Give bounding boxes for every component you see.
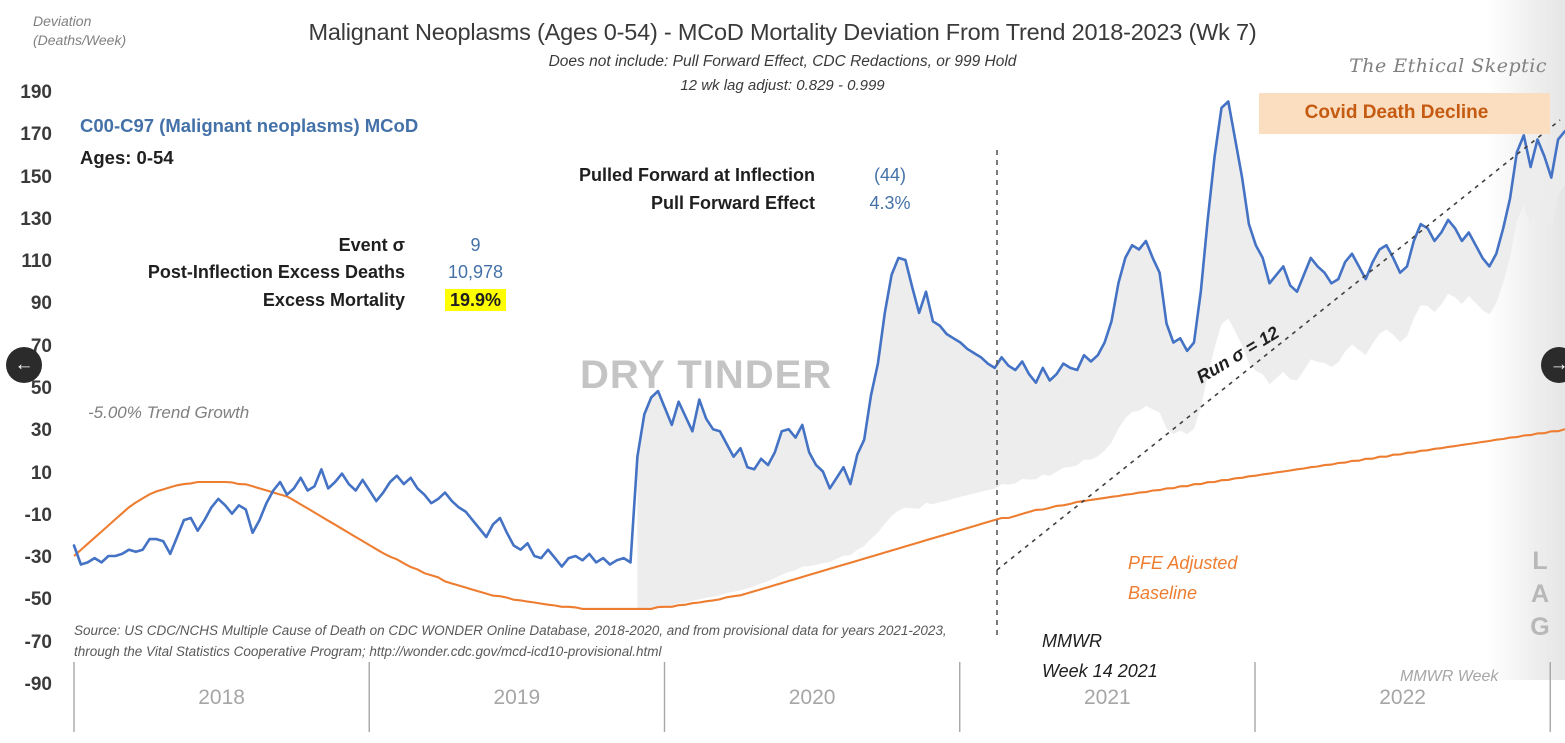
pf-stat-value-0: (44) [840, 165, 940, 186]
excess-mortality-highlight: 19.9% [445, 289, 506, 311]
pfe-baseline-line1: PFE Adjusted [1128, 548, 1237, 578]
y-axis-tick-150: 150 [6, 167, 52, 189]
trend-growth-label: -5.00% Trend Growth [88, 403, 249, 423]
x-axis-tick-2018: 2018 [198, 686, 245, 710]
pfe-adjusted-baseline-label: PFE Adjusted Baseline [1128, 548, 1237, 608]
stat-value-0: 9 [418, 235, 533, 256]
x-axis-tick-2020: 2020 [789, 686, 836, 710]
stat-label-0: Event σ [70, 235, 405, 256]
chart-subtitle-lag-adjust: 12 wk lag adjust: 0.829 - 0.999 [0, 77, 1565, 94]
pfe-baseline-line2: Baseline [1128, 578, 1237, 608]
arrow-right-icon: → [1550, 354, 1565, 376]
source-citation: Source: US CDC/NCHS Multiple Cause of De… [74, 620, 974, 662]
covid-death-decline-label: Covid Death Decline [1259, 102, 1534, 124]
x-axis-tick-2019: 2019 [494, 686, 541, 710]
pf-stat-label-0: Pulled Forward at Inflection [480, 165, 815, 186]
mmwr-week-axis-label: MMWR Week [1400, 668, 1498, 686]
chart-subtitle-exclusions: Does not include: Pull Forward Effect, C… [0, 53, 1565, 71]
icd-code-label: C00-C97 (Malignant neoplasms) MCoD [80, 115, 418, 137]
lag-letter-A: A [1527, 578, 1553, 611]
mmwr-marker-line2: Week 14 2021 [1042, 656, 1158, 686]
dry-tinder-watermark: DRY TINDER [580, 353, 832, 398]
y-axis-tick--50: -50 [6, 589, 52, 611]
mmwr-marker-line1: MMWR [1042, 626, 1158, 656]
ethical-skeptic-watermark: The Ethical Skeptic [1349, 55, 1547, 77]
y-axis-tick-30: 30 [6, 420, 52, 442]
previous-image-button[interactable]: ← [6, 347, 42, 383]
age-range-label: Ages: 0-54 [80, 147, 174, 169]
x-axis-tick-2022: 2022 [1379, 686, 1426, 710]
lag-letter-G: G [1527, 611, 1553, 644]
y-axis-tick-10: 10 [6, 463, 52, 485]
lag-label: LAG [1527, 545, 1553, 644]
arrow-left-icon: ← [15, 354, 34, 376]
y-axis-tick--70: -70 [6, 632, 52, 654]
y-axis-tick--90: -90 [6, 674, 52, 696]
covid-death-decline-banner: Covid Death Decline [1259, 93, 1550, 134]
lag-letter-L: L [1527, 545, 1553, 578]
y-axis-tick-170: 170 [6, 124, 52, 146]
pf-stat-label-1: Pull Forward Effect [480, 193, 815, 214]
stat-label-2: Excess Mortality [70, 290, 405, 311]
pf-stat-value-1: 4.3% [840, 193, 940, 214]
run-sigma-trendline [997, 120, 1560, 570]
chart-title: Malignant Neoplasms (Ages 0-54) - MCoD M… [0, 19, 1565, 46]
mmwr-week14-marker-label: MMWR Week 14 2021 [1042, 626, 1158, 686]
y-axis-tick-130: 130 [6, 209, 52, 231]
y-axis-tick-110: 110 [6, 251, 52, 273]
y-axis-tick--10: -10 [6, 505, 52, 527]
x-axis-tick-2021: 2021 [1084, 686, 1131, 710]
stat-label-1: Post-Inflection Excess Deaths [70, 262, 405, 283]
y-axis-tick--30: -30 [6, 547, 52, 569]
stat-value-1: 10,978 [418, 262, 533, 283]
stat-value-2: 19.9% [418, 290, 533, 311]
y-axis-tick-90: 90 [6, 293, 52, 315]
